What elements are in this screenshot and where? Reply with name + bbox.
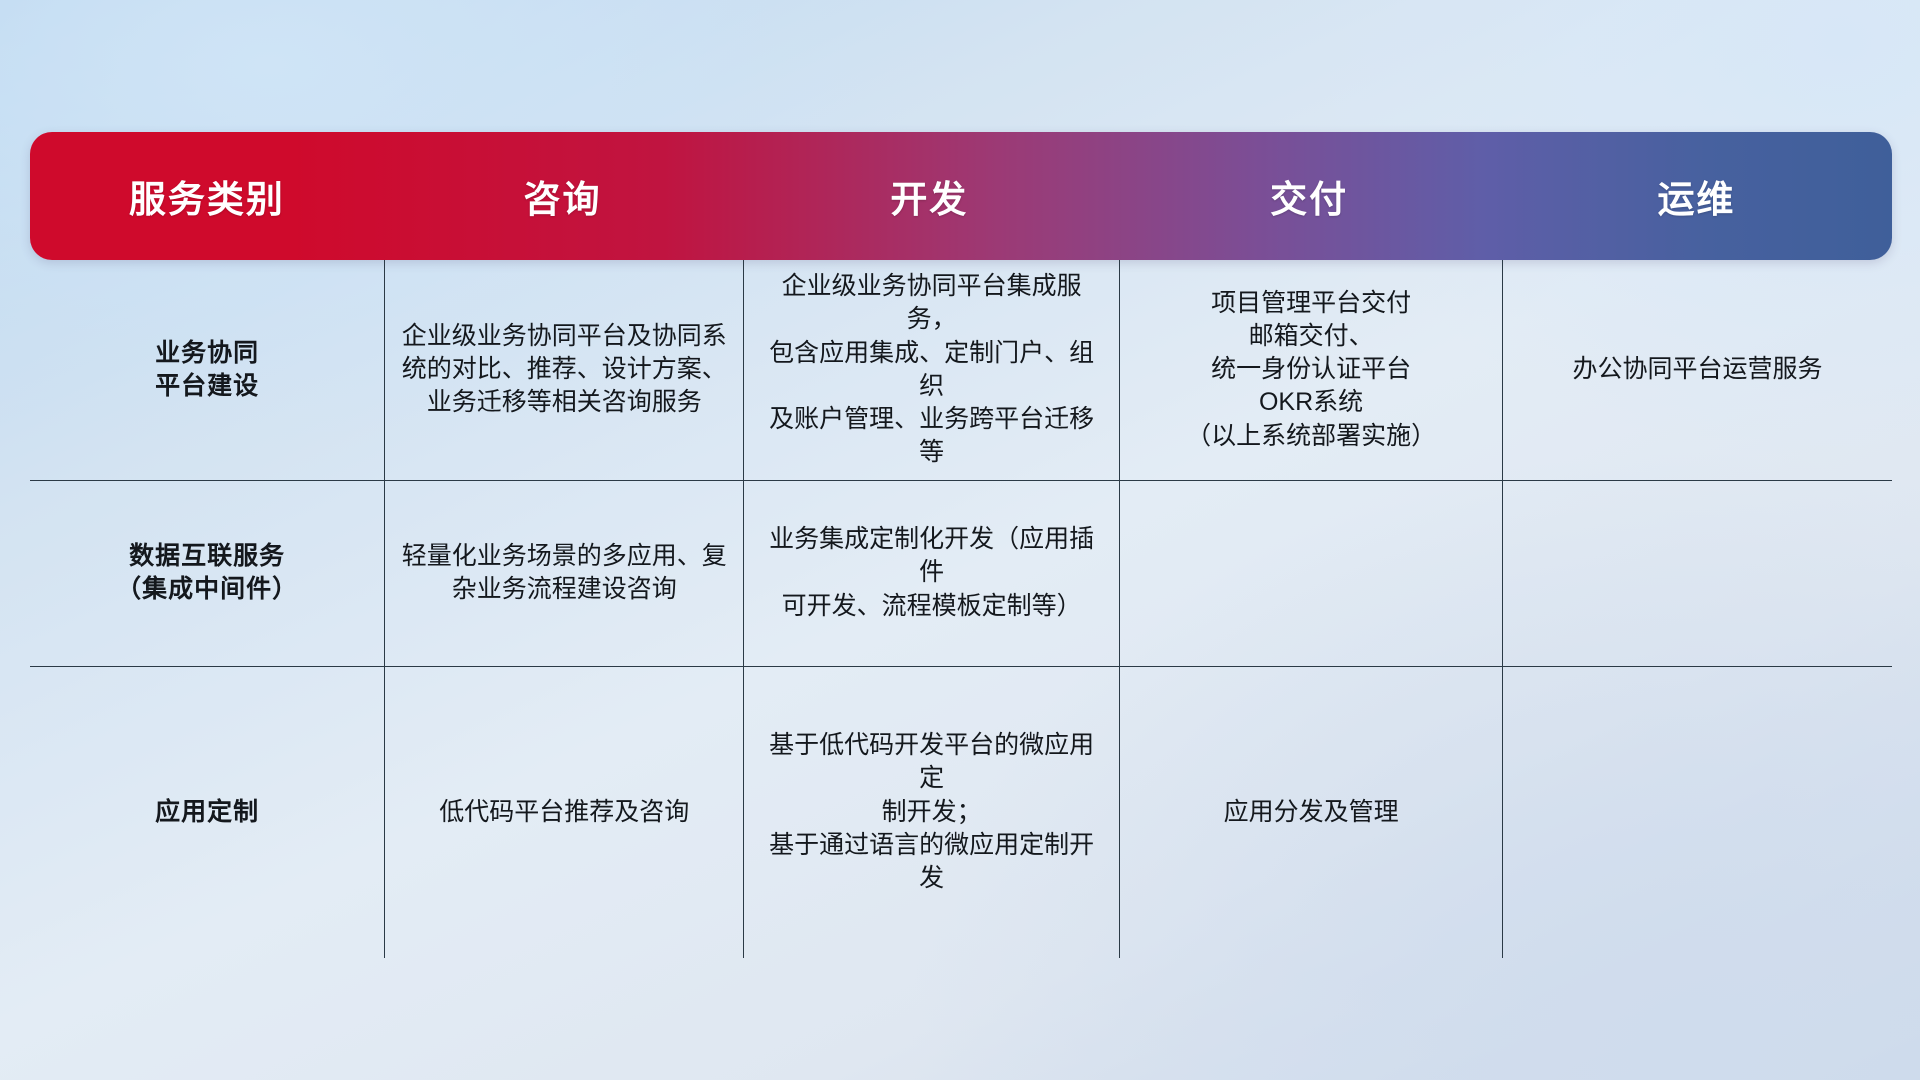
slide-canvas: 服务类别 咨询 开发 交付 运维 业务协同 平台建设 企业级业务协同平台及协同系…	[0, 0, 1920, 1080]
header-cell-consulting: 咨询	[384, 132, 742, 260]
cell-operations-row1: 办公协同平台运营服务	[1503, 260, 1892, 480]
cell-operations-row3	[1503, 666, 1892, 958]
row-label-app-customization: 应用定制	[30, 666, 385, 958]
cell-consulting-row1: 企业级业务协同平台及协同系 统的对比、推荐、设计方案、 业务迁移等相关咨询服务	[385, 260, 744, 480]
cell-delivery-row2	[1120, 480, 1503, 666]
cell-development-row1: 企业级业务协同平台集成服务， 包含应用集成、定制门户、组织 及账户管理、业务跨平…	[744, 260, 1120, 480]
cell-consulting-row3: 低代码平台推荐及咨询	[385, 666, 744, 958]
table-row: 应用定制 低代码平台推荐及咨询 基于低代码开发平台的微应用定 制开发； 基于通过…	[30, 666, 1892, 958]
cell-development-row3: 基于低代码开发平台的微应用定 制开发； 基于通过语言的微应用定制开发	[744, 666, 1120, 958]
row-label-business-collaboration: 业务协同 平台建设	[30, 260, 385, 480]
service-matrix-table: 业务协同 平台建设 企业级业务协同平台及协同系 统的对比、推荐、设计方案、 业务…	[30, 260, 1892, 958]
cell-consulting-row2: 轻量化业务场景的多应用、复 杂业务流程建设咨询	[385, 480, 744, 666]
table-row: 数据互联服务 （集成中间件） 轻量化业务场景的多应用、复 杂业务流程建设咨询 业…	[30, 480, 1892, 666]
row-label-data-interconnect: 数据互联服务 （集成中间件）	[30, 480, 385, 666]
header-cell-operations: 运维	[1501, 132, 1892, 260]
header-cell-development: 开发	[741, 132, 1117, 260]
cell-development-row2: 业务集成定制化开发（应用插件 可开发、流程模板定制等）	[744, 480, 1120, 666]
header-cell-delivery: 交付	[1117, 132, 1501, 260]
header-cell-service-category: 服务类别	[30, 132, 384, 260]
cell-operations-row2	[1503, 480, 1892, 666]
cell-delivery-row1: 项目管理平台交付 邮箱交付、 统一身份认证平台 OKR系统 （以上系统部署实施）	[1120, 260, 1503, 480]
cell-delivery-row3: 应用分发及管理	[1120, 666, 1503, 958]
table-header-row: 服务类别 咨询 开发 交付 运维	[30, 132, 1892, 260]
table-row: 业务协同 平台建设 企业级业务协同平台及协同系 统的对比、推荐、设计方案、 业务…	[30, 260, 1892, 480]
